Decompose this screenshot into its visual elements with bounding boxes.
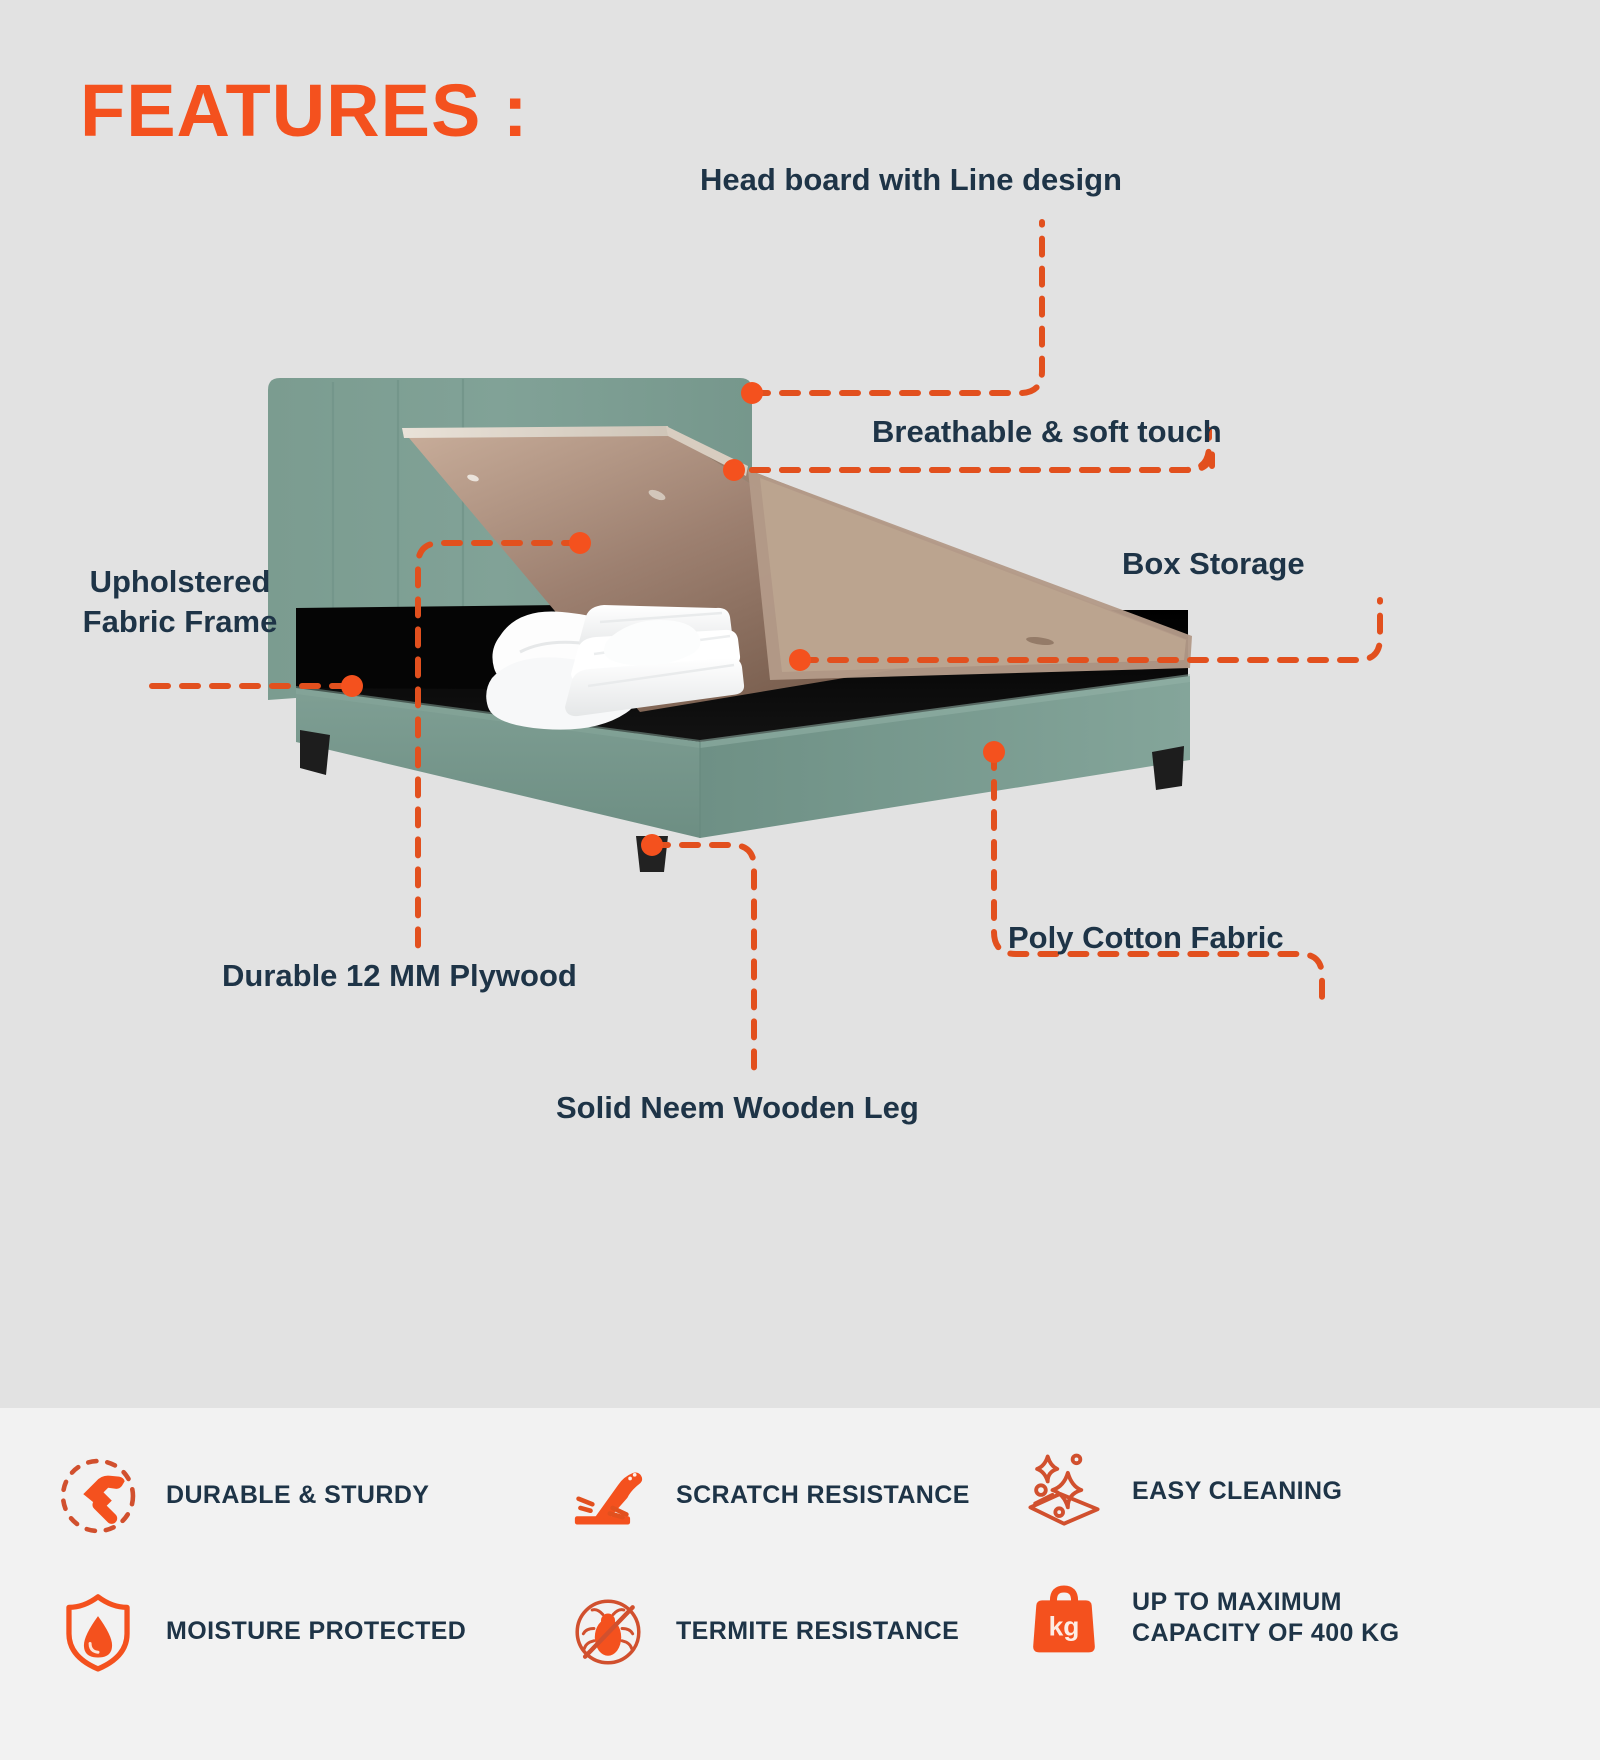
feature-label: TERMITE RESISTANCE: [676, 1616, 959, 1648]
callout-label-box-storage: Box Storage: [1122, 544, 1305, 584]
hammer-icon: [46, 1444, 150, 1548]
feature-label: DURABLE & STURDY: [166, 1480, 429, 1512]
feature-badges: DURABLE & STURDY SCRATCH RESISTANCE: [0, 1408, 1600, 1760]
feature-termite-resistance[interactable]: TERMITE RESISTANCE: [556, 1580, 959, 1684]
knife-scratch-icon: [556, 1444, 660, 1548]
callout-label-wooden-leg: Solid Neem Wooden Leg: [556, 1088, 919, 1128]
bed-illustration: [0, 0, 1600, 1408]
feature-max-capacity[interactable]: kg UP TO MAXIMUM CAPACITY OF 400 KG: [1012, 1566, 1399, 1670]
callout-label-breathable: Breathable & soft touch: [872, 412, 1222, 452]
feature-label: EASY CLEANING: [1132, 1476, 1342, 1508]
callout-label-plywood: Durable 12 MM Plywood: [222, 956, 577, 996]
kg-bag-icon: kg: [1012, 1566, 1116, 1670]
feature-moisture-protected[interactable]: MOISTURE PROTECTED: [46, 1580, 466, 1684]
feature-easy-cleaning[interactable]: EASY CLEANING: [1012, 1440, 1342, 1544]
callout-label-head-board: Head board with Line design: [700, 160, 1122, 200]
feature-label: UP TO MAXIMUM CAPACITY OF 400 KG: [1132, 1587, 1399, 1650]
kg-bag-icon-text: kg: [1049, 1612, 1080, 1642]
feature-scratch-resistance[interactable]: SCRATCH RESISTANCE: [556, 1444, 970, 1548]
shield-droplet-icon: [46, 1580, 150, 1684]
feature-label: MOISTURE PROTECTED: [166, 1616, 466, 1648]
callout-label-poly-cotton: Poly Cotton Fabric: [1008, 918, 1284, 958]
sparkle-icon: [1012, 1440, 1116, 1544]
infographic-page: FEATURES :: [0, 0, 1600, 1760]
feature-durable-sturdy[interactable]: DURABLE & STURDY: [46, 1444, 429, 1548]
no-bug-icon: [556, 1580, 660, 1684]
feature-label: SCRATCH RESISTANCE: [676, 1480, 970, 1512]
callout-label-upholstered: Upholstered Fabric Frame: [40, 562, 320, 641]
